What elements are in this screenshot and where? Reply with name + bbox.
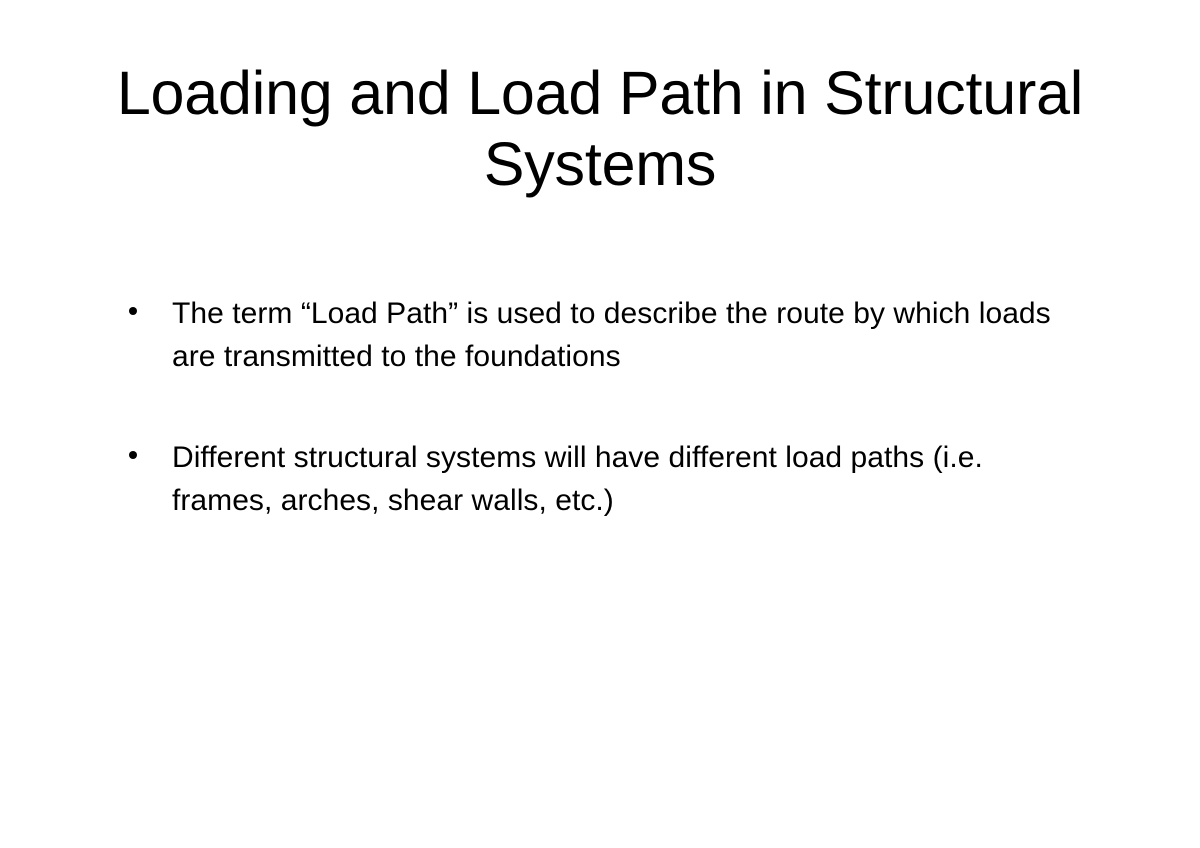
slide-canvas: Loading and Load Path in Structural Syst… [0, 0, 1200, 848]
bullet-dot-icon [129, 307, 137, 315]
bullet-list-item: Different structural systems will have d… [126, 436, 1086, 522]
bullet-text: Different structural systems will have d… [172, 436, 1086, 522]
bullet-dot-icon [129, 451, 137, 459]
slide-title-line-2: Systems [100, 129, 1100, 200]
bullet-text: The term “Load Path” is used to describe… [172, 292, 1086, 378]
slide-body: The term “Load Path” is used to describe… [126, 292, 1086, 522]
slide-title: Loading and Load Path in Structural Syst… [100, 58, 1100, 200]
slide-title-line-1: Loading and Load Path in Structural [100, 58, 1100, 129]
bullet-list-item: The term “Load Path” is used to describe… [126, 292, 1086, 378]
